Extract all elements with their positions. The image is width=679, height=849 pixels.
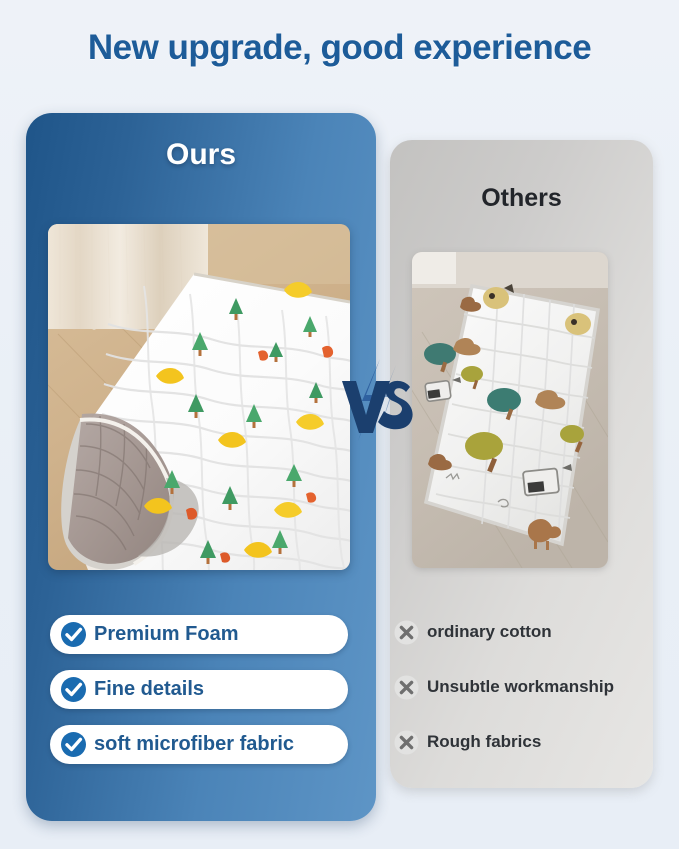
page-title: New upgrade, good experience — [0, 28, 679, 68]
check-circle-icon — [60, 731, 87, 758]
others-feature-label: Unsubtle workmanship — [427, 677, 614, 697]
others-product-photo — [412, 252, 608, 568]
others-feature-label: Rough fabrics — [427, 732, 541, 752]
x-circle-icon — [394, 620, 419, 645]
ours-feature-label: Fine details — [94, 678, 204, 701]
comparison-infographic: New upgrade, good experience Ours — [0, 0, 679, 849]
ours-product-photo — [48, 224, 350, 570]
ours-feature-label: Premium Foam — [94, 623, 238, 646]
others-feature-item: ordinary cotton — [394, 617, 652, 647]
ours-panel-title: Ours — [26, 138, 376, 172]
others-panel-title: Others — [390, 184, 653, 213]
check-circle-icon — [60, 676, 87, 703]
x-circle-icon — [394, 730, 419, 755]
ours-feature-item: Fine details — [50, 670, 348, 709]
ours-feature-item: Premium Foam — [50, 615, 348, 654]
others-feature-label: ordinary cotton — [427, 622, 552, 642]
others-feature-item: Unsubtle workmanship — [394, 672, 652, 702]
ours-feature-item: soft microfiber fabric — [50, 725, 348, 764]
versus-badge — [336, 355, 418, 447]
others-feature-item: Rough fabrics — [394, 727, 652, 757]
ours-feature-label: soft microfiber fabric — [94, 733, 294, 756]
x-circle-icon — [394, 675, 419, 700]
check-circle-icon — [60, 621, 87, 648]
